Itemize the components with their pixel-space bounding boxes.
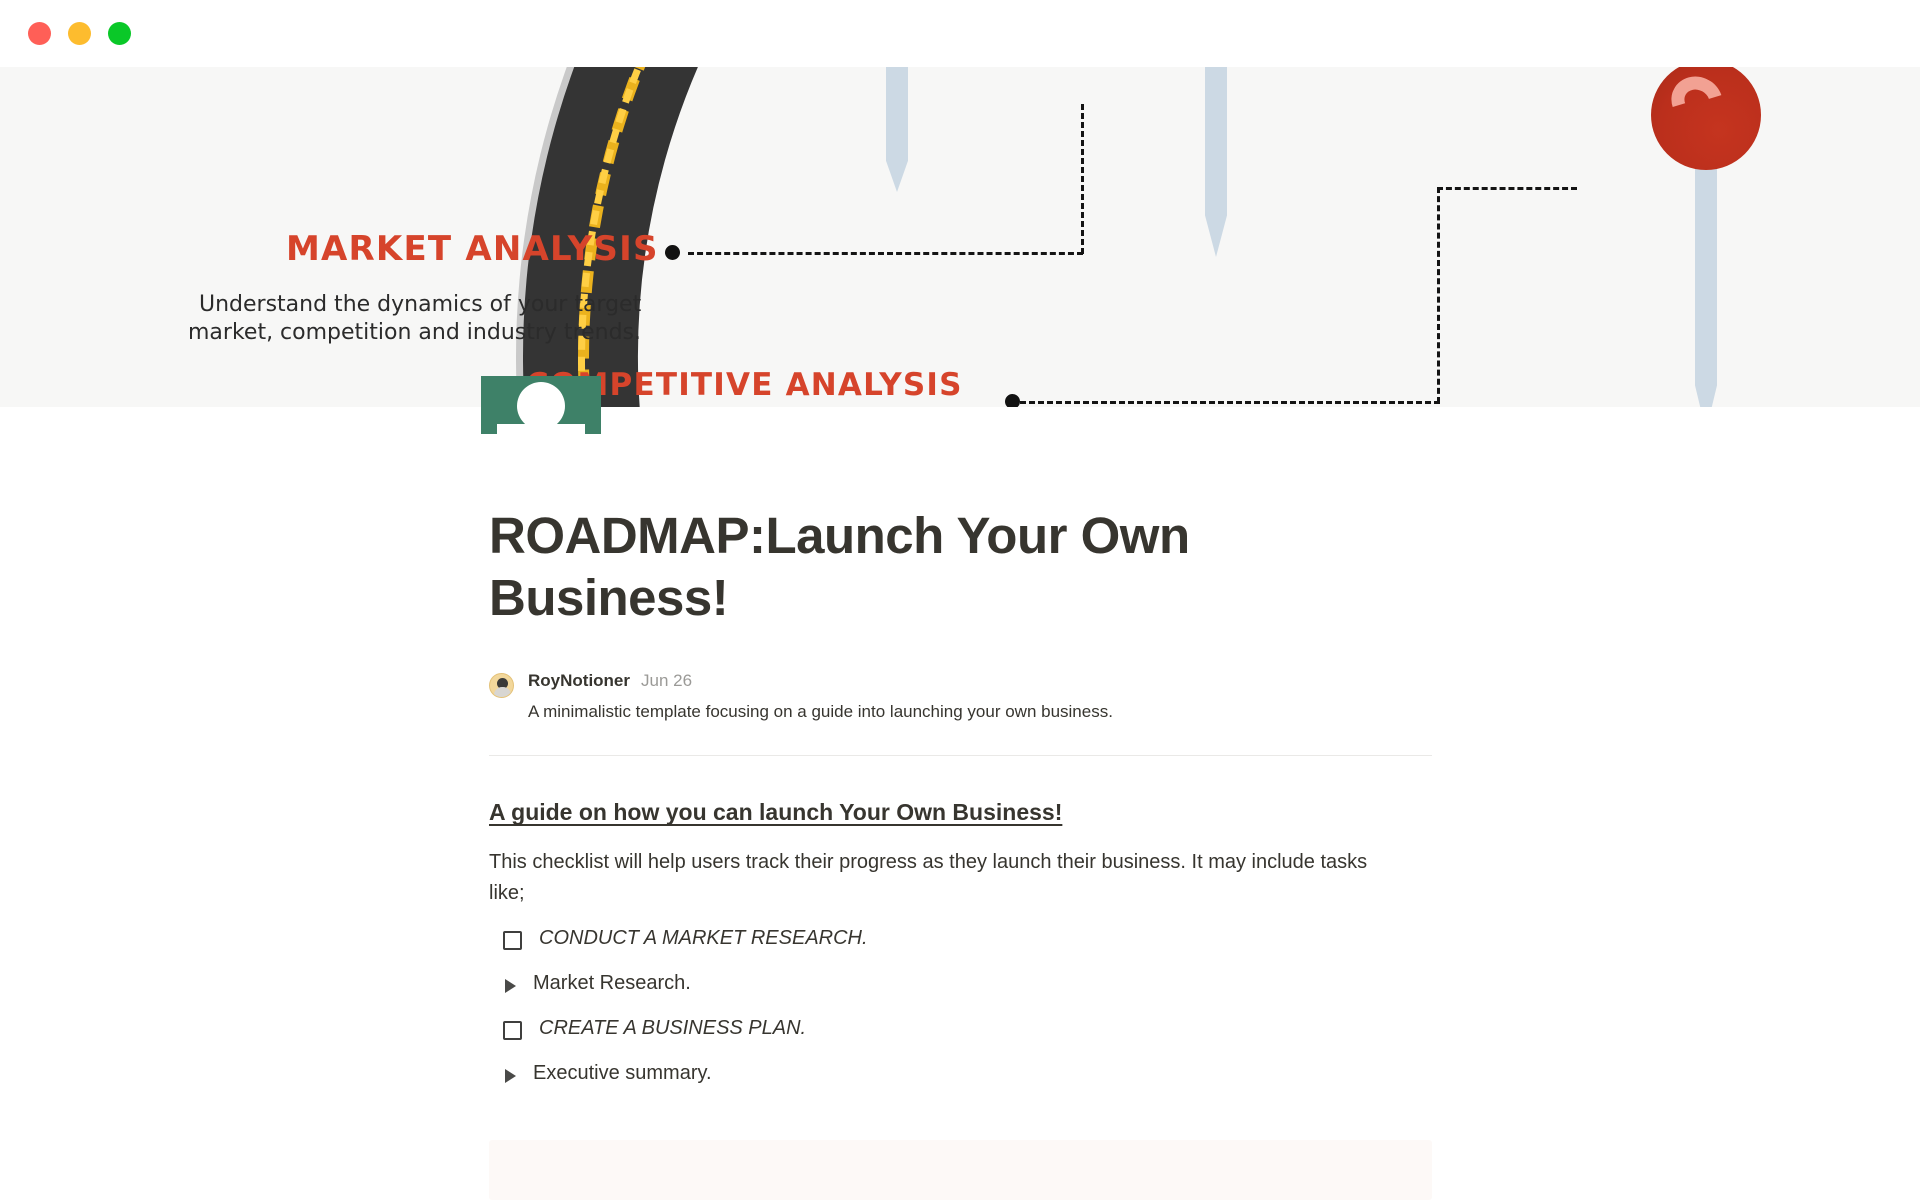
window-controls [28,22,131,45]
avatar[interactable] [489,673,514,698]
map-pin-needle-icon [886,67,908,192]
cover-illustration: MARKET ANALYSIS Understand the dynamics … [0,67,1920,407]
minimize-window-button[interactable] [68,22,91,45]
cover-heading-market-analysis: MARKET ANALYSIS [286,229,659,269]
connector-line-competitive-vertical [1437,187,1440,403]
map-pin-needle-icon [1205,67,1227,257]
document-body: ROADMAP:Launch Your Own Business! RoyNot… [0,407,1920,1200]
map-pin-needle-icon [1695,146,1717,407]
connector-line-market-horizontal [688,252,1083,255]
document-content: ROADMAP:Launch Your Own Business! RoyNot… [489,407,1432,1200]
page-title[interactable]: ROADMAP:Launch Your Own Business! [489,505,1209,629]
close-window-button[interactable] [28,22,51,45]
toggle-chevron-right-icon[interactable] [505,979,516,993]
connector-dot-competitive [1005,394,1020,407]
maximize-window-button[interactable] [108,22,131,45]
map-pin-gloss-icon [1663,68,1731,135]
connector-line-competitive-top [1437,187,1577,190]
cover-text-market-analysis-line2: market, competition and industry trends. [188,317,641,349]
callout-block[interactable] [489,1140,1432,1200]
toggle-chevron-right-icon[interactable] [505,1069,516,1083]
map-pin-icon-3 [1646,67,1766,407]
page-subtitle: A minimalistic template focusing on a gu… [528,702,1113,722]
map-pin-icon-1 [886,67,908,192]
list-item[interactable]: CREATE A BUSINESS PLAN. [489,1017,1432,1040]
list-item-label: CREATE A BUSINESS PLAN. [539,1017,806,1040]
list-item[interactable]: Market Research. [489,972,1432,995]
byline: RoyNotioner Jun 26 A minimalistic templa… [489,671,1432,722]
byline-meta: RoyNotioner Jun 26 [528,671,1113,691]
page-icon-notch [517,382,565,430]
list-item-label: CONDUCT A MARKET RESEARCH. [539,927,868,950]
author-name[interactable]: RoyNotioner [528,671,630,691]
avatar-body-icon [494,687,511,698]
list-item[interactable]: Executive summary. [489,1062,1432,1085]
list-item-label: Executive summary. [533,1062,712,1085]
list-item-label: Market Research. [533,972,691,995]
checkbox-conduct-market-research[interactable] [503,931,522,950]
window-titlebar [0,0,1920,67]
publish-date: Jun 26 [641,671,692,691]
connector-line-competitive-horizontal [1020,401,1440,404]
intro-paragraph: This checklist will help users track the… [489,847,1394,908]
list-item[interactable]: CONDUCT A MARKET RESEARCH. [489,927,1432,950]
map-pin-icon-2 [1205,67,1227,257]
page-icon-left-bar [481,376,497,434]
page-cover-image[interactable]: MARKET ANALYSIS Understand the dynamics … [0,67,1920,407]
checkbox-create-business-plan[interactable] [503,1021,522,1040]
page-icon-right-bar [585,376,601,434]
map-pin-head-icon [1651,67,1761,170]
connector-line-market-vertical [1081,104,1084,254]
checklist: CONDUCT A MARKET RESEARCH. Market Resear… [489,927,1432,1085]
page-icon[interactable] [489,376,593,424]
byline-text: RoyNotioner Jun 26 A minimalistic templa… [528,671,1113,722]
section-heading[interactable]: A guide on how you can launch Your Own B… [489,799,1062,826]
connector-dot-market [665,245,680,260]
